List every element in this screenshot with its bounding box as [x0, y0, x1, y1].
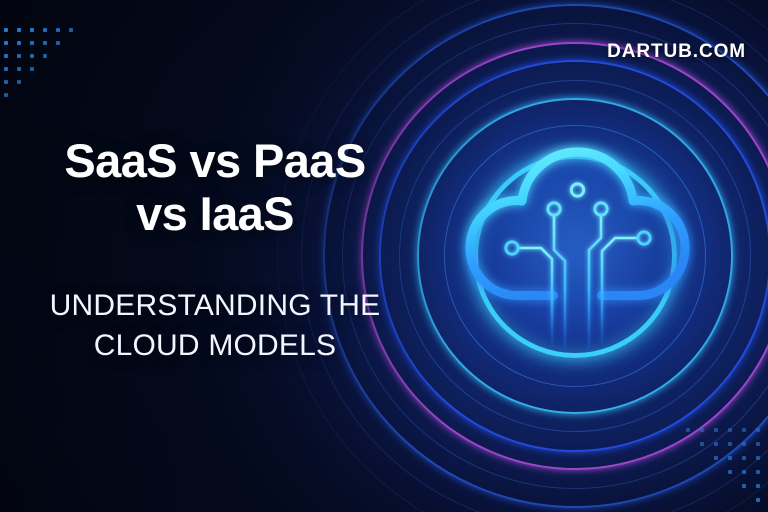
decorative-dot: [4, 67, 8, 71]
decorative-dot: [43, 28, 47, 32]
decorative-dot: [4, 54, 8, 58]
decorative-dot: [728, 428, 732, 432]
decorative-dot: [714, 456, 718, 460]
decorative-dot: [756, 428, 760, 432]
decorative-dot: [30, 54, 34, 58]
dot-grid-bottom-right: [686, 428, 768, 512]
decorative-dot: [43, 54, 47, 58]
decorative-dot: [714, 428, 718, 432]
decorative-dot: [17, 41, 21, 45]
page-title: SaaS vs PaaS vs IaaS: [0, 134, 430, 240]
hero-banner: DARTUB.COM SaaS vs PaaS vs IaaS UNDERSTA…: [0, 0, 768, 512]
page-subtitle: UNDERSTANDING THE CLOUD MODELS: [0, 286, 430, 366]
decorative-dot: [30, 28, 34, 32]
decorative-dot: [30, 67, 34, 71]
decorative-dot: [742, 470, 746, 474]
decorative-dot: [56, 41, 60, 45]
site-watermark: DARTUB.COM: [607, 41, 746, 63]
decorative-dot: [700, 428, 704, 432]
decorative-dot: [742, 484, 746, 488]
decorative-dot: [4, 28, 8, 32]
decorative-dot: [756, 442, 760, 446]
cloud-circuit-icon: [455, 138, 700, 358]
decorative-dot: [4, 80, 8, 84]
decorative-dot: [17, 28, 21, 32]
decorative-dot: [742, 442, 746, 446]
decorative-dot: [728, 442, 732, 446]
subhead-line-1: UNDERSTANDING THE: [0, 286, 430, 326]
decorative-dot: [756, 470, 760, 474]
decorative-dot: [756, 498, 760, 502]
decorative-dot: [728, 470, 732, 474]
decorative-dot: [17, 54, 21, 58]
decorative-dot: [17, 67, 21, 71]
subhead-line-2: CLOUD MODELS: [0, 326, 430, 366]
decorative-dot: [756, 484, 760, 488]
decorative-dot: [728, 456, 732, 460]
decorative-dot: [742, 456, 746, 460]
decorative-dot: [43, 41, 47, 45]
decorative-dot: [17, 80, 21, 84]
dot-grid-top-left: [4, 28, 82, 106]
decorative-dot: [742, 428, 746, 432]
headline-line-2: vs IaaS: [0, 187, 430, 240]
decorative-dot: [4, 41, 8, 45]
decorative-dot: [69, 28, 73, 32]
cloud-circuit-svg: [455, 138, 700, 358]
decorative-dot: [756, 456, 760, 460]
decorative-dot: [56, 28, 60, 32]
headline-line-1: SaaS vs PaaS: [0, 134, 430, 187]
decorative-dot: [4, 93, 8, 97]
decorative-dot: [30, 41, 34, 45]
decorative-dot: [700, 442, 704, 446]
decorative-dot: [686, 428, 690, 432]
decorative-dot: [714, 442, 718, 446]
